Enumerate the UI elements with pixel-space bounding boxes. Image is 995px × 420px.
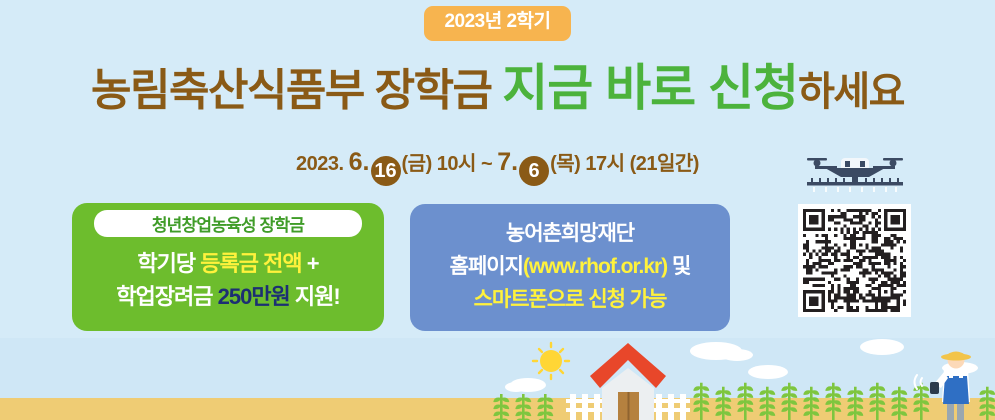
spray-drone-icon [795, 146, 915, 194]
scholarship-line-1: 학기당 등록금 전액 + [72, 247, 384, 280]
apply-line-2: 홈페이지(www.rhof.or.kr) 및 [410, 250, 730, 283]
headline-part-2: 지금 바로 신청 [502, 60, 798, 116]
qr-code[interactable] [803, 209, 906, 312]
date-month-1: 6. [349, 148, 370, 176]
scholarship-l2-c: 지원! [290, 284, 340, 309]
apply-line-1: 농어촌희망재단 [410, 217, 730, 250]
date-year: 2023. [296, 153, 349, 175]
apply-card-body: 농어촌희망재단 홈페이지(www.rhof.or.kr) 및 스마트폰으로 신청… [410, 217, 730, 316]
headline-part-1: 농림축산식품부 장학금 [91, 66, 502, 115]
scholarship-l2-a: 학업장려금 [116, 284, 217, 309]
apply-line-3: 스마트폰으로 신청 가능 [410, 283, 730, 316]
apply-l2-c: 및 [667, 255, 690, 278]
date-day-2: 6 [519, 156, 549, 186]
qr-code-container[interactable] [798, 204, 911, 317]
apply-website-url[interactable]: (www.rhof.or.kr) [523, 255, 667, 278]
scholarship-line-2: 학업장려금 250만원 지원! [72, 280, 384, 313]
scholarship-card-body: 학기당 등록금 전액 + 학업장려금 250만원 지원! [72, 247, 384, 313]
scholarship-l1-highlight: 등록금 전액 [200, 251, 301, 276]
scholarship-l1-a: 학기당 [137, 251, 200, 276]
scholarship-card: 청년창업농육성 장학금 학기당 등록금 전액 + 학업장려금 250만원 지원! [72, 203, 384, 331]
page-title: 농림축산식품부 장학금 지금 바로 신청하세요 [0, 63, 995, 113]
promo-banner: 2023년 2학기 농림축산식품부 장학금 지금 바로 신청하세요 2023. … [0, 0, 995, 420]
scholarship-l1-c: + [302, 251, 319, 276]
scholarship-l2-amount: 250만원 [218, 284, 290, 309]
date-day-1: 16 [371, 156, 401, 186]
headline-part-3: 하세요 [798, 70, 904, 114]
date-tail: (목) 17시 (21일간) [550, 153, 699, 175]
semester-badge: 2023년 2학기 [424, 6, 570, 41]
scholarship-card-title: 청년창업농육성 장학금 [94, 210, 362, 237]
apply-l2-a: 홈페이지 [450, 255, 523, 278]
date-mid: (금) 10시 ~ [402, 153, 498, 175]
apply-card: 농어촌희망재단 홈페이지(www.rhof.or.kr) 및 스마트폰으로 신청… [410, 204, 730, 331]
semester-badge-row: 2023년 2학기 [0, 6, 995, 41]
date-month-2: 7. [497, 148, 518, 176]
farm-illustration [0, 338, 995, 420]
